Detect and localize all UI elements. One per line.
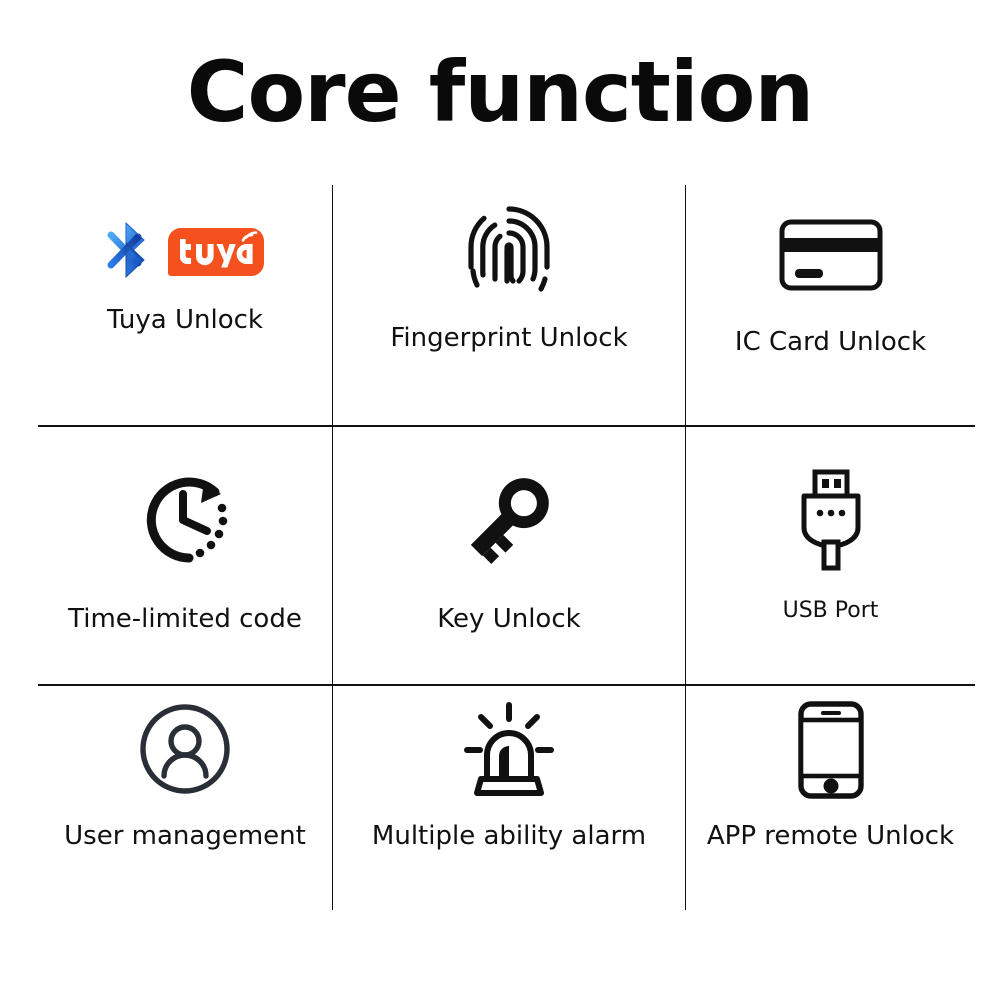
fingerprint-icon-wrap (461, 203, 557, 303)
feature-cell-usb-port: USB Port (686, 470, 975, 623)
ic-card-icon-wrap (779, 213, 883, 301)
siren-alarm-icon (457, 701, 561, 801)
key-icon (462, 468, 556, 572)
feature-cell-tuya-unlock: Tuya Unlock (38, 213, 332, 335)
feature-label-key-unlock: Key Unlock (437, 604, 580, 634)
feature-cell-multiple-ability-alarm: Multiple ability alarm (333, 703, 685, 851)
ic-card-icon (779, 219, 883, 295)
feature-cell-user-management: User management (38, 703, 332, 851)
feature-cell-key-unlock: Key Unlock (333, 470, 685, 634)
feature-label-multiple-ability-alarm: Multiple ability alarm (372, 821, 646, 851)
feature-cell-fingerprint-unlock: Fingerprint Unlock (333, 203, 685, 353)
feature-label-tuya-unlock: Tuya Unlock (107, 305, 263, 335)
feature-cell-app-remote-unlock: APP remote Unlock (686, 703, 975, 851)
phone-icon-wrap (798, 703, 864, 801)
smartphone-icon (798, 701, 864, 803)
user-circle-icon (138, 702, 232, 800)
clock-arrow-icon (133, 468, 237, 572)
usb-connector-icon (793, 468, 869, 576)
feature-label-fingerprint-unlock: Fingerprint Unlock (390, 323, 627, 353)
usb-icon-wrap (793, 470, 869, 574)
key-icon-wrap (462, 470, 556, 570)
feature-cell-time-limited-code: Time-limited code (38, 470, 332, 634)
feature-label-usb-port: USB Port (783, 598, 879, 623)
core-function-infographic: Core function (0, 0, 1000, 1000)
alarm-icon-wrap (457, 703, 561, 799)
feature-label-time-limited-code: Time-limited code (68, 604, 302, 634)
clock-icon-wrap (133, 470, 237, 570)
tuya-logo (168, 228, 264, 276)
page-title: Core function (0, 48, 1000, 136)
feature-cell-ic-card-unlock: IC Card Unlock (686, 213, 975, 357)
feature-label-ic-card-unlock: IC Card Unlock (735, 327, 926, 357)
bluetooth-icon (106, 221, 152, 283)
grid-divider-horizontal-2 (38, 684, 975, 686)
feature-grid: Tuya Unlock (38, 185, 975, 910)
tuya-unlock-icon-group (106, 213, 264, 291)
feature-label-user-management: User management (64, 821, 306, 851)
feature-label-app-remote-unlock: APP remote Unlock (707, 821, 954, 851)
user-icon-wrap (138, 703, 232, 799)
grid-divider-horizontal-1 (38, 425, 975, 427)
fingerprint-icon (461, 199, 557, 307)
